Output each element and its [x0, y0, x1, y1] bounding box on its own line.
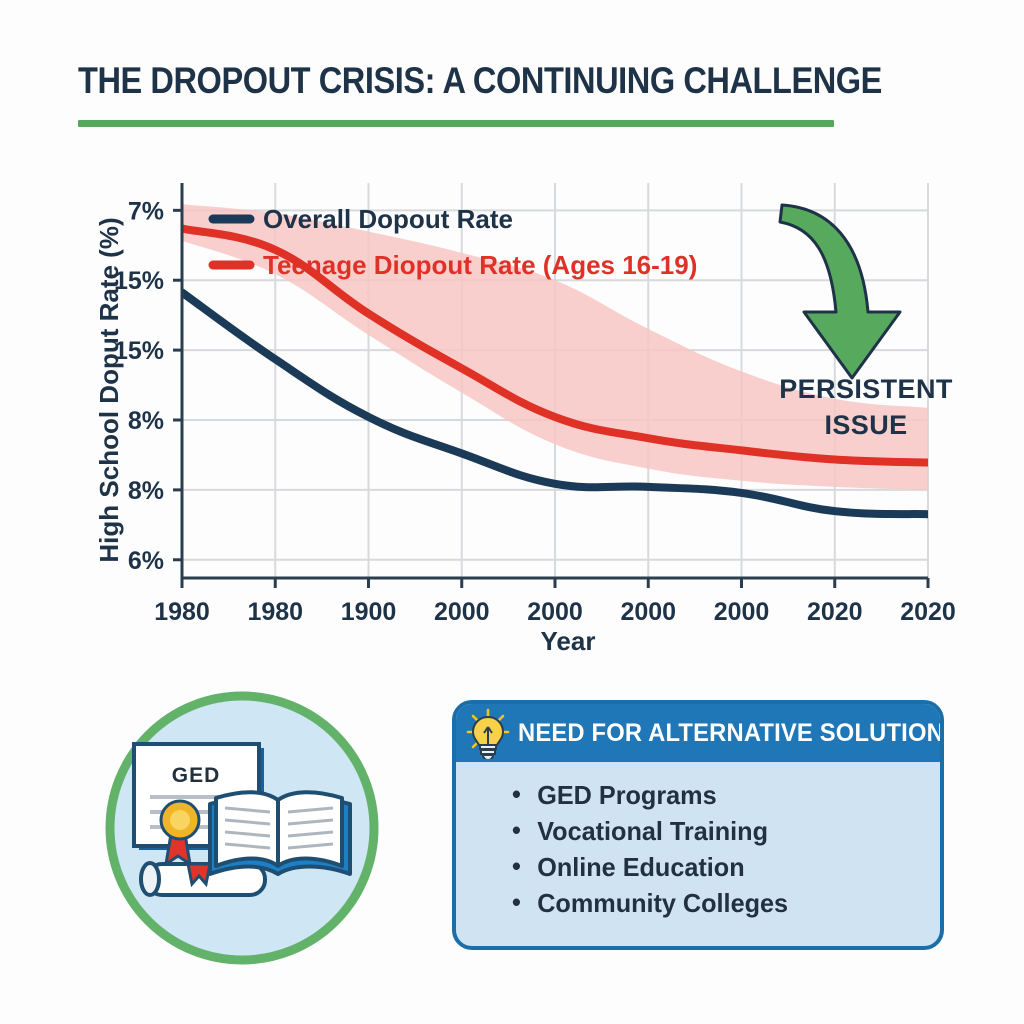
dropout-rate-line-chart: 7%15%15%8%8%6% 1980198019002000200020002… [0, 150, 1024, 670]
x-axis-tick-label: 2000 [714, 598, 770, 626]
x-axis-tick-label: 2000 [620, 598, 676, 626]
infographic-page: THE DROPOUT CRISIS: A CONTINUING CHALLEN… [0, 0, 1024, 1024]
solution-list-item: GED Programs [512, 778, 927, 814]
solutions-box-header: NEED FOR ALTERNATIVE SOLUTIONS [456, 704, 940, 762]
solution-list-item: Online Education [512, 850, 927, 886]
callout-line-2: ISSUE [824, 410, 907, 440]
legend-label-teenage: Teenage Diopout Rate (Ages 16-19) [263, 250, 697, 280]
chart-container: 7%15%15%8%8%6% 1980198019002000200020002… [0, 150, 1024, 670]
certificate-label: GED [172, 764, 221, 787]
x-axis-tick-label: 1900 [341, 598, 397, 626]
y-axis-tick-label: 8% [128, 477, 164, 505]
y-axis-tick-label: 8% [128, 407, 164, 435]
ged-badge-illustration: GED [92, 686, 392, 970]
title-block: THE DROPOUT CRISIS: A CONTINUING CHALLEN… [78, 62, 838, 101]
solutions-box: NEED FOR ALTERNATIVE SOLUTIONS GED Progr… [452, 700, 944, 950]
x-axis-tick-label: 2000 [434, 598, 490, 626]
x-axis-title: Year [541, 626, 596, 656]
solutions-header-title: NEED FOR ALTERNATIVE SOLUTIONS [518, 719, 944, 748]
y-axis-tick-label: 6% [128, 547, 164, 575]
x-axis-tick-labels: 198019801900200020002000200020202020 [154, 578, 956, 626]
bottom-row: GED [0, 686, 1024, 986]
x-axis-tick-label: 2020 [900, 598, 956, 626]
solutions-list: GED ProgramsVocational TrainingOnline Ed… [456, 762, 940, 922]
legend-label-overall: Overall Dopout Rate [263, 204, 513, 234]
x-axis-tick-label: 1980 [154, 598, 210, 626]
x-axis-tick-label: 2000 [527, 598, 583, 626]
callout-line-1: PERSISTENT [779, 374, 953, 404]
open-book-icon [210, 792, 350, 874]
y-axis-tick-label: 7% [128, 197, 164, 225]
lightbulb-icon [464, 707, 512, 759]
curved-down-arrow-icon [780, 205, 900, 378]
x-axis-tick-label: 1980 [247, 598, 303, 626]
y-axis-title: High School Doput Rate (%) [94, 217, 124, 562]
y-axis-tick-labels: 7%15%15%8%8%6% [114, 197, 182, 574]
title-underline-rule [78, 120, 834, 127]
page-title: THE DROPOUT CRISIS: A CONTINUING CHALLEN… [78, 62, 747, 101]
solution-list-item: Vocational Training [512, 814, 927, 850]
solution-list-item: Community Colleges [512, 886, 927, 922]
x-axis-tick-label: 2020 [807, 598, 863, 626]
